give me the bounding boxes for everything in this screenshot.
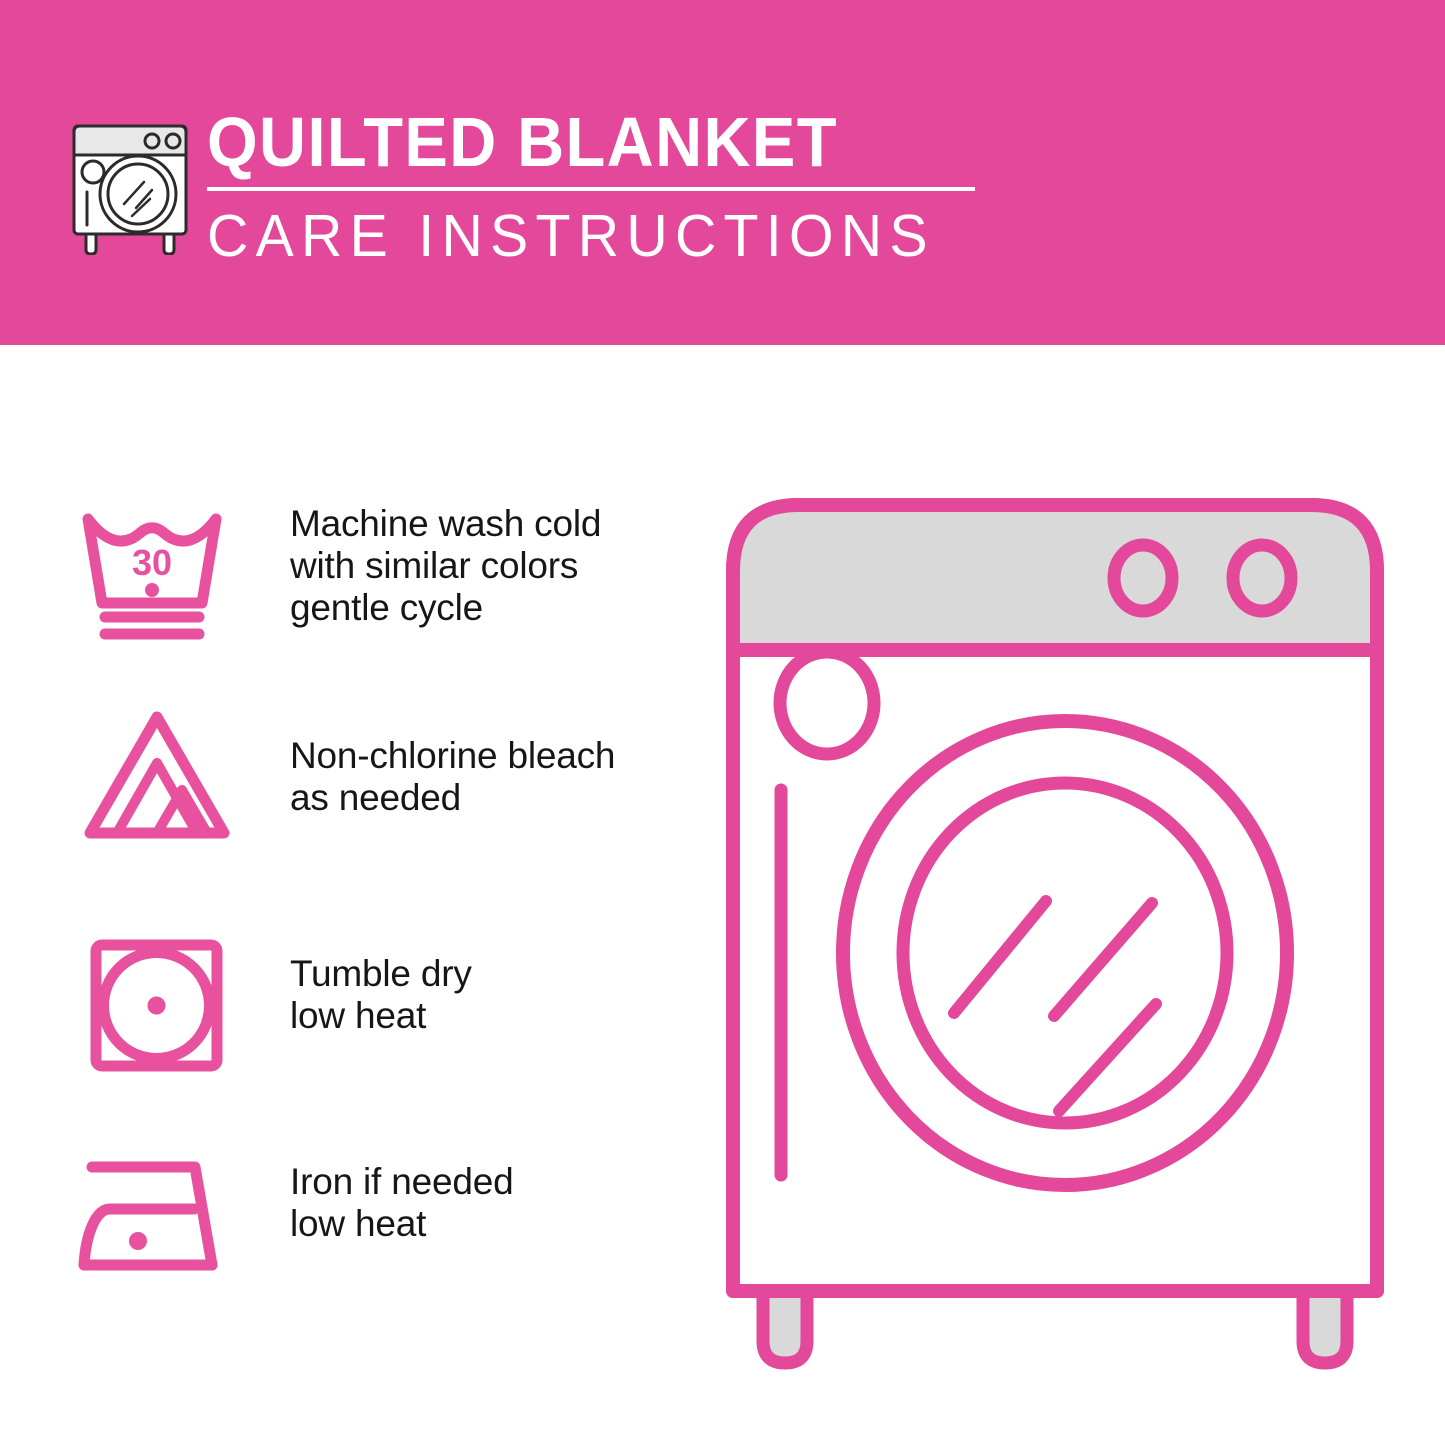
machine-leg-right — [1303, 1290, 1347, 1363]
care-instruction-text: Iron if needed low heat — [290, 1161, 690, 1245]
care-instruction-row: Iron if needed low heat — [0, 1135, 700, 1335]
header-text-block: QUILTED BLANKET CARE INSTRUCTIONS — [207, 103, 997, 268]
page-title: QUILTED BLANKET — [207, 103, 942, 181]
care-instruction-text: Non-chlorine bleach as needed — [290, 735, 690, 819]
care-instruction-row: Non-chlorine bleach as needed — [0, 695, 700, 895]
care-instruction-row: Tumble dry low heat — [0, 925, 700, 1125]
care-instruction-list: 30 Machine wash cold with similar colors… — [0, 345, 700, 1445]
care-instruction-text: Tumble dry low heat — [290, 953, 690, 1037]
header-banner: QUILTED BLANKET CARE INSTRUCTIONS — [0, 0, 1445, 345]
page-subtitle: CARE INSTRUCTIONS — [207, 204, 973, 268]
front-load-washing-machine-illustration — [715, 485, 1395, 1370]
wash-tub-30-icon: 30 — [72, 503, 232, 643]
care-instructions-page: QUILTED BLANKET CARE INSTRUCTIONS 30 — [0, 0, 1445, 1445]
washing-machine-icon — [60, 100, 200, 255]
care-instruction-text: Machine wash cold with similar colors ge… — [290, 503, 690, 629]
svg-text:30: 30 — [132, 542, 172, 583]
machine-leg-left — [763, 1290, 807, 1363]
iron-low-heat-icon — [72, 1151, 237, 1281]
title-divider — [207, 187, 975, 191]
tumble-dry-low-icon — [84, 933, 229, 1078]
care-instruction-row: 30 Machine wash cold with similar colors… — [0, 495, 700, 695]
non-chlorine-bleach-triangle-icon — [72, 703, 242, 848]
